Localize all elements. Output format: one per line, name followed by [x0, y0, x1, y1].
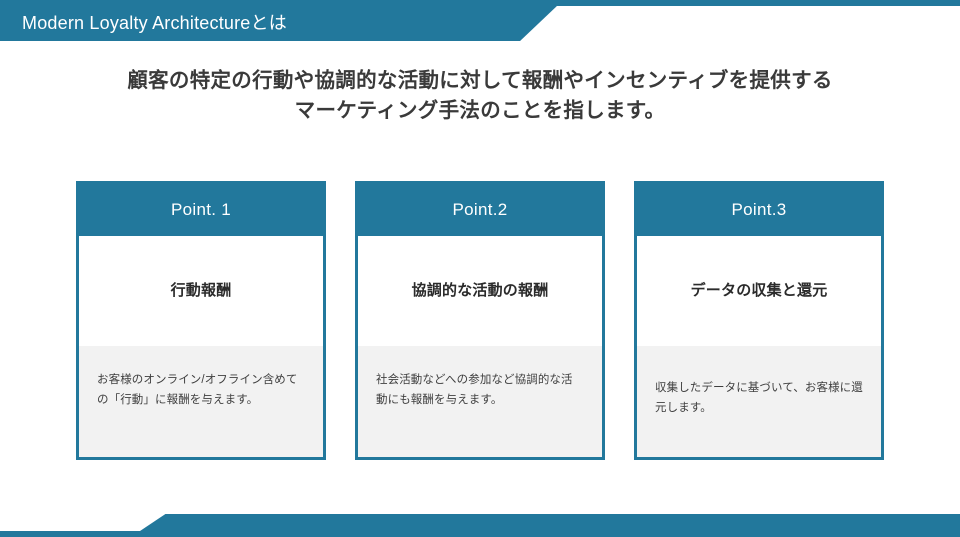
point-card-3-header: Point.3: [637, 184, 881, 236]
lead-paragraph: 顧客の特定の行動や協調的な活動に対して報酬やインセンティブを提供する マーケティ…: [0, 66, 960, 125]
points-card-group: Point. 1 行動報酬 お客様のオンライン/オフライン含めての「行動」に報酬…: [76, 181, 886, 460]
point-card-3-title: データの収集と還元: [691, 281, 828, 301]
point-card-1-header: Point. 1: [79, 184, 323, 236]
point-card-2-description: 社会活動などへの参加など協調的な活動にも報酬を与えます。: [376, 370, 584, 410]
point-card-2: Point.2 協調的な活動の報酬 社会活動などへの参加など協調的な活動にも報酬…: [355, 181, 605, 460]
point-card-2-title: 協調的な活動の報酬: [412, 281, 549, 301]
point-card-3: Point.3 データの収集と還元 収集したデータに基づいて、お客様に還元します…: [634, 181, 884, 460]
slide-title: Modern Loyalty Architectureとは: [22, 8, 522, 38]
point-card-3-description-area: 収集したデータに基づいて、お客様に還元します。: [637, 346, 881, 457]
point-card-1-title-area: 行動報酬: [79, 236, 323, 346]
point-card-2-header: Point.2: [358, 184, 602, 236]
point-card-1: Point. 1 行動報酬 お客様のオンライン/オフライン含めての「行動」に報酬…: [76, 181, 326, 460]
point-card-1-title: 行動報酬: [171, 281, 232, 301]
point-card-3-title-area: データの収集と還元: [637, 236, 881, 346]
point-card-1-description: お客様のオンライン/オフライン含めての「行動」に報酬を与えます。: [97, 370, 305, 410]
slide-canvas: Modern Loyalty Architectureとは 顧客の特定の行動や協…: [0, 0, 960, 537]
bottom-accent-shape: [140, 514, 960, 531]
lead-line-2: マーケティング手法のことを指します。: [0, 96, 960, 126]
point-card-2-title-area: 協調的な活動の報酬: [358, 236, 602, 346]
point-card-3-description: 収集したデータに基づいて、お客様に還元します。: [655, 378, 863, 418]
point-card-1-description-area: お客様のオンライン/オフライン含めての「行動」に報酬を与えます。: [79, 346, 323, 457]
bottom-accent-rule: [0, 531, 960, 537]
point-card-2-description-area: 社会活動などへの参加など協調的な活動にも報酬を与えます。: [358, 346, 602, 457]
lead-line-1: 顧客の特定の行動や協調的な活動に対して報酬やインセンティブを提供する: [0, 66, 960, 96]
